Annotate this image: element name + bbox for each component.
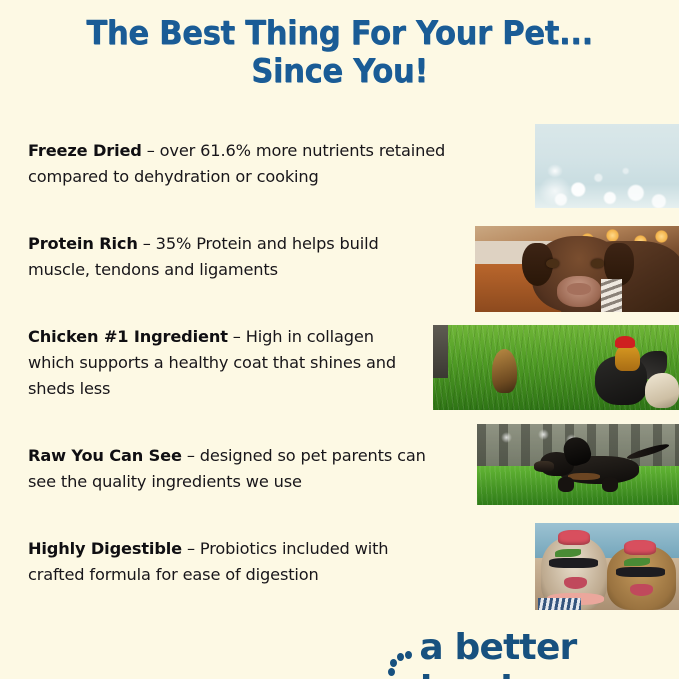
page-title: The Best Thing For Your Pet... Since You… <box>24 14 655 90</box>
flower-crown <box>624 558 650 566</box>
bokeh-light <box>538 429 549 440</box>
flower-crown <box>555 549 581 557</box>
feature-lead: Chicken #1 Ingredient <box>28 327 228 346</box>
paw-toe <box>405 651 412 659</box>
frost-ice-photo <box>535 124 679 208</box>
brand-logo[interactable]: a better treat <box>388 628 679 679</box>
feature-lead: Freeze Dried <box>28 141 142 160</box>
rooster-hens-photo <box>433 325 679 410</box>
paw-toe <box>390 659 397 667</box>
sunglasses <box>616 567 665 577</box>
dog-outfit <box>538 598 581 610</box>
dog-mouth <box>564 577 587 589</box>
bokeh-light <box>655 230 668 243</box>
paw-toe <box>397 653 404 661</box>
hair-bow <box>624 540 656 555</box>
brand-name: a better treat <box>419 628 679 679</box>
hen <box>492 349 517 393</box>
title-line-2: Since You! <box>24 52 655 90</box>
feature-item-protein-rich: Protein Rich – 35% Protein and helps bui… <box>28 231 428 283</box>
frost-cluster <box>538 176 572 206</box>
dog-nose <box>567 283 591 295</box>
feature-item-chicken-first-ingredient: Chicken #1 Ingredient – High in collagen… <box>28 324 420 402</box>
dog-eye <box>591 259 603 268</box>
feature-lead: Highly Digestible <box>28 539 182 558</box>
rooster-comb <box>615 336 635 348</box>
dog-body <box>607 546 676 610</box>
dog-leg <box>602 477 618 492</box>
feature-item-raw-you-can-see: Raw You Can See – designed so pet parent… <box>28 443 440 495</box>
dog-mouth <box>630 584 653 596</box>
poster: The Best Thing For Your Pet... Since You… <box>0 0 679 679</box>
feature-lead: Raw You Can See <box>28 446 182 465</box>
paw-print-icon <box>388 650 417 679</box>
two-dogs-bows-photo <box>535 523 679 610</box>
sunglasses <box>549 558 598 568</box>
feature-item-freeze-dried: Freeze Dried – over 61.6% more nutrients… <box>28 138 498 190</box>
feature-lead: Protein Rich <box>28 234 138 253</box>
dog-collar <box>601 279 621 312</box>
hen <box>645 373 679 409</box>
paw-toe <box>388 668 395 676</box>
chocolate-lab-photo <box>475 226 679 312</box>
dachshund-running-photo <box>477 424 679 505</box>
fence-post <box>433 325 448 378</box>
hair-bow <box>558 530 590 545</box>
dog-eye <box>546 259 558 268</box>
dog-snout <box>534 461 554 472</box>
title-line-1: The Best Thing For Your Pet... <box>24 14 655 52</box>
dog-leg <box>558 477 574 492</box>
feature-item-highly-digestible: Highly Digestible – Probiotics included … <box>28 536 434 588</box>
